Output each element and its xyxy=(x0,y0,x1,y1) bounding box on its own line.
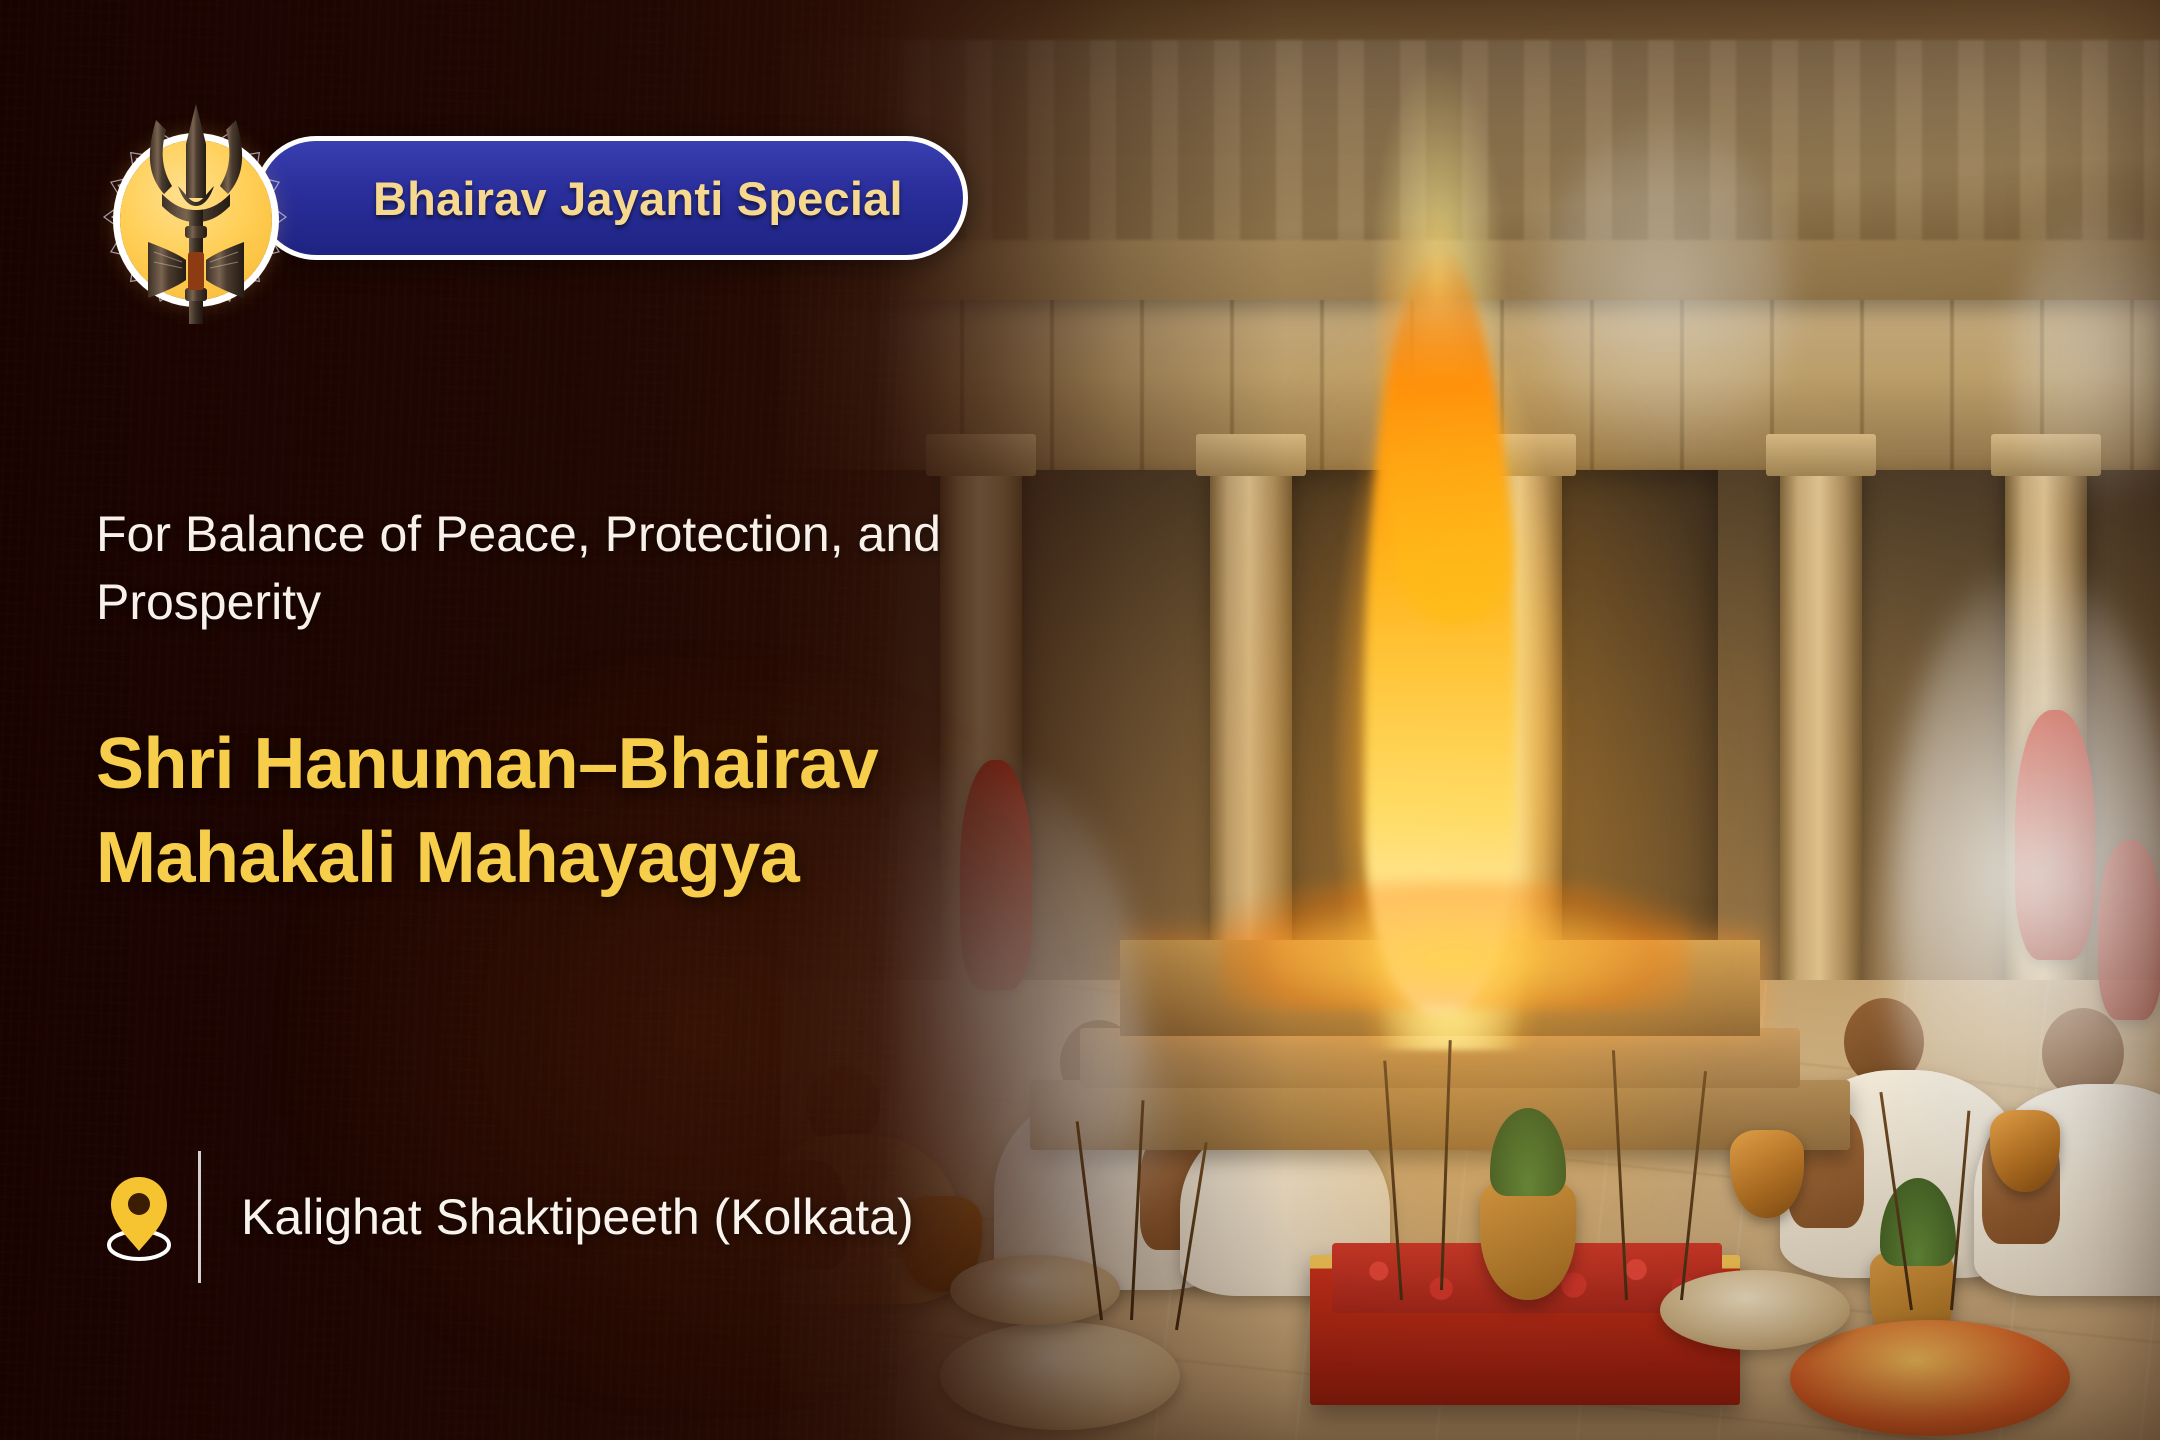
trishul-damru-icon xyxy=(96,118,294,316)
promo-banner: Bhairav Jayanti Special xyxy=(0,0,2160,1440)
location-divider xyxy=(198,1151,201,1283)
trishul-icon xyxy=(126,102,266,328)
banner-subtitle: For Balance of Peace, Protection, and Pr… xyxy=(96,500,1096,636)
location-row: Kalighat Shaktipeeth (Kolkata) xyxy=(100,1148,914,1286)
event-badge[interactable]: Bhairav Jayanti Special xyxy=(254,136,968,260)
event-badge-label: Bhairav Jayanti Special xyxy=(373,171,903,226)
banner-content: Bhairav Jayanti Special xyxy=(0,0,2160,1440)
banner-title: Shri Hanuman–Bhairav Mahakali Mahayagya xyxy=(96,718,1156,905)
location-pin-icon xyxy=(100,1171,178,1263)
location-label: Kalighat Shaktipeeth (Kolkata) xyxy=(241,1188,914,1246)
